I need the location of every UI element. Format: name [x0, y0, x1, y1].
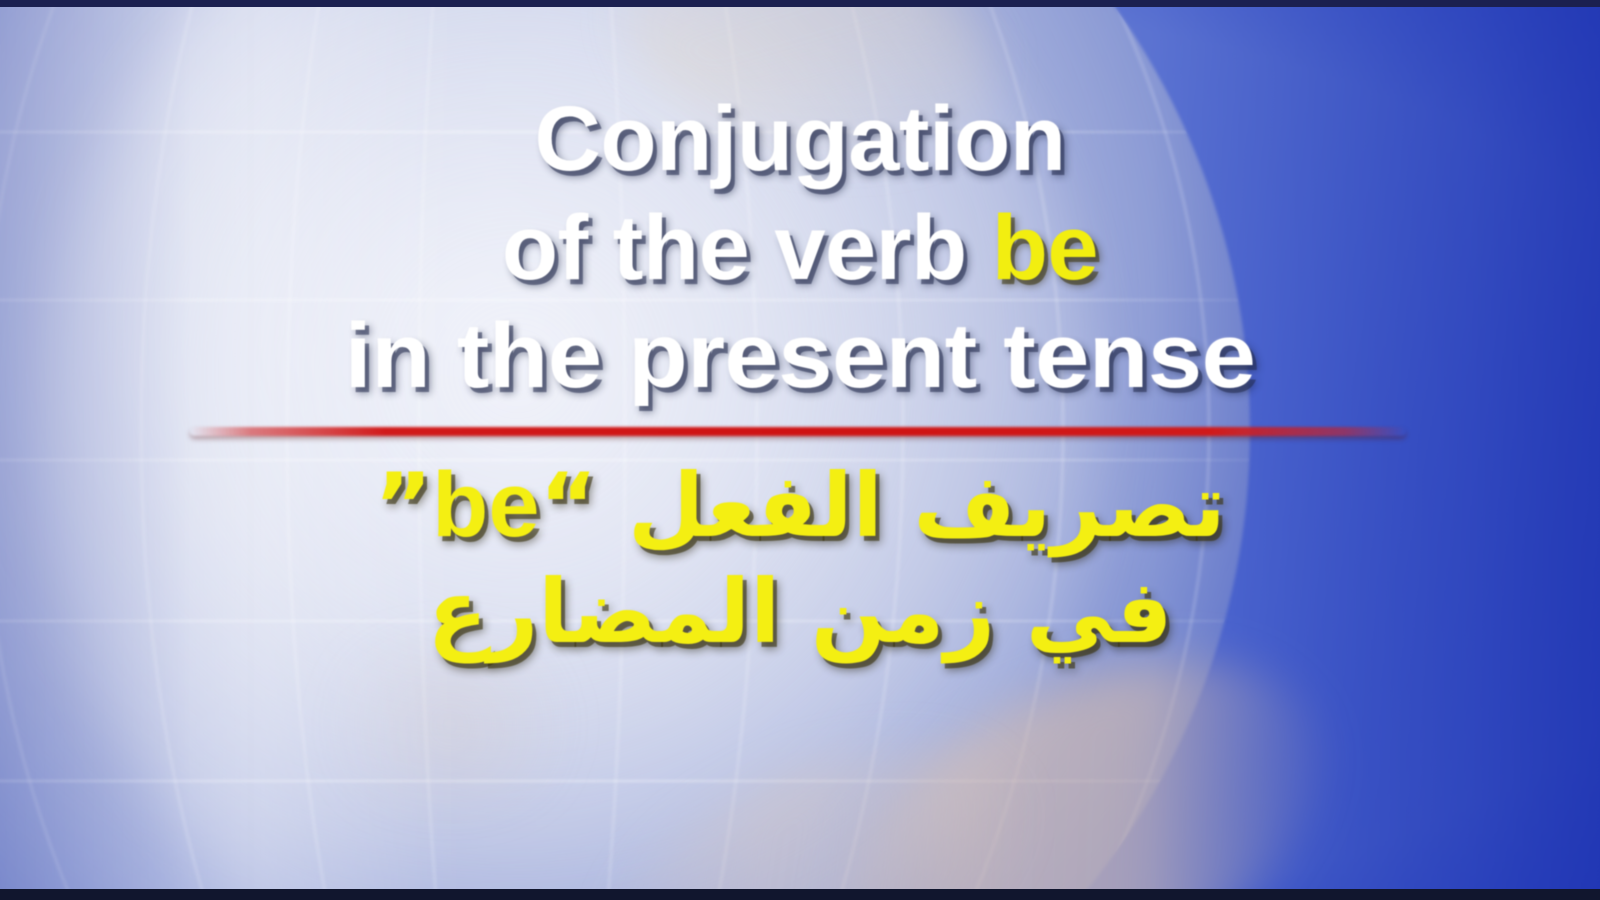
english-title-line-1: Conjugation: [0, 86, 1600, 193]
english-title-line-3: in the present tense: [0, 303, 1600, 410]
highlighted-verb-be: be: [992, 197, 1098, 299]
letterbox-bar-top: [0, 0, 1600, 7]
arabic-quote-close: ”: [374, 454, 432, 557]
english-title-line-2-prefix: of the verb: [502, 197, 992, 299]
arabic-title-line-1: تصريف الفعل “be”: [0, 454, 1600, 557]
arabic-title-line-1-prefix: تصريف الفعل: [597, 454, 1225, 557]
arabic-title-line-2: في زمن المضارع: [0, 563, 1600, 662]
arabic-highlighted-verb-be: be: [432, 454, 539, 557]
english-title-line-2: of the verb be: [0, 195, 1600, 302]
arabic-quote-open: “: [540, 454, 598, 557]
red-divider-rule: [190, 427, 1406, 436]
title-card-slide: Conjugation of the verb be in the presen…: [0, 0, 1600, 900]
letterbox-bar-bottom: [0, 889, 1600, 900]
arabic-title: تصريف الفعل “be” في زمن المضارع: [0, 454, 1600, 662]
english-title: Conjugation of the verb be in the presen…: [0, 0, 1600, 410]
title-content: Conjugation of the verb be in the presen…: [0, 0, 1600, 900]
